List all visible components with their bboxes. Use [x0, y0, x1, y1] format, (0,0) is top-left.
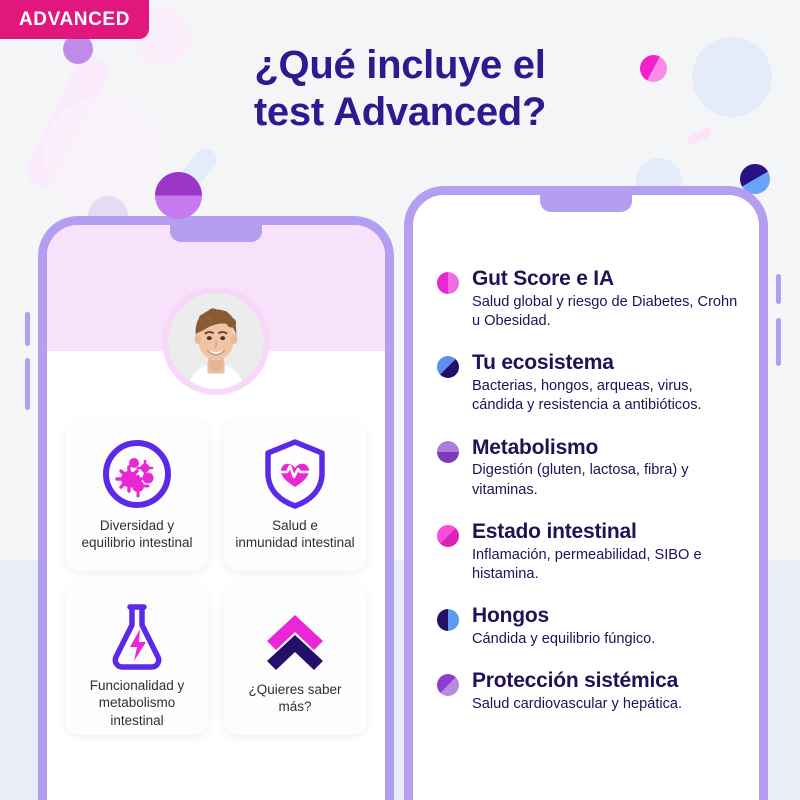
shield-heartbeat-icon — [260, 435, 330, 513]
list-item-desc: Salud global y riesgo de Diabetes, Crohn… — [472, 293, 745, 332]
feature-card-label: ¿Quieres saber más? — [248, 681, 341, 716]
circle-lightblue-large — [692, 37, 772, 117]
phone-right-side-button — [776, 274, 781, 304]
dot-blue-navy-split — [437, 356, 459, 378]
phone-mockup-left: Diversidad y equilibrio intestinal — [38, 216, 394, 800]
phone-right-frame: Gut Score e IA Salud global y riesgo de … — [404, 186, 768, 800]
card-label-line: inmunidad intestinal — [235, 534, 354, 551]
phone-right-screen: Gut Score e IA Salud global y riesgo de … — [413, 195, 759, 800]
page-title-line2: test Advanced? — [140, 89, 660, 136]
list-item-desc: Digestión (gluten, lactosa, fibra) y vit… — [472, 461, 745, 500]
dot-pink-split — [437, 525, 459, 547]
list-item[interactable]: Protección sistémica Salud cardiovascula… — [437, 669, 745, 714]
dot-navy-blue-split — [437, 609, 459, 631]
feature-list: Gut Score e IA Salud global y riesgo de … — [437, 267, 745, 734]
list-item-desc: Bacterias, hongos, arqueas, virus, cándi… — [472, 377, 745, 416]
page-title: ¿Qué incluye el test Advanced? — [140, 42, 660, 136]
list-item-title: Estado intestinal — [472, 520, 745, 544]
user-photo — [168, 293, 264, 389]
feature-card-know-more[interactable]: ¿Quieres saber más? — [223, 585, 367, 735]
list-item-title: Protección sistémica — [472, 669, 682, 693]
card-label-line: metabolismo — [90, 694, 185, 711]
advanced-badge: ADVANCED — [0, 0, 149, 39]
feature-card-grid: Diversidad y equilibrio intestinal — [65, 421, 367, 735]
card-label-line: Diversidad y — [81, 517, 192, 534]
poster-canvas: ADVANCED ¿Qué incluye el test Advanced? — [0, 0, 800, 800]
phone-left-side-button — [25, 312, 30, 346]
list-item-title: Gut Score e IA — [472, 267, 745, 291]
list-item-desc: Salud cardiovascular y hepática. — [472, 695, 682, 714]
circle-purple-split — [155, 172, 202, 219]
phone-left-side-button-2 — [25, 358, 30, 410]
dot-violet-split — [437, 674, 459, 696]
card-label-line: más? — [248, 698, 341, 715]
feature-card-label: Salud e inmunidad intestinal — [235, 517, 354, 552]
phone-mockup-right: Gut Score e IA Salud global y riesgo de … — [404, 186, 768, 800]
double-chevron-up-icon — [257, 599, 333, 677]
phone-left-screen: Diversidad y equilibrio intestinal — [47, 225, 385, 800]
advanced-badge-label: ADVANCED — [19, 9, 130, 31]
list-item-desc: Inflamación, permeabilidad, SIBO e hista… — [472, 546, 745, 585]
card-label-line: Funcionalidad y — [90, 677, 185, 694]
list-item[interactable]: Hongos Cándida y equilibrio fúngico. — [437, 604, 745, 649]
feature-card-immunity[interactable]: Salud e inmunidad intestinal — [223, 421, 367, 571]
feature-card-diversity[interactable]: Diversidad y equilibrio intestinal — [65, 421, 209, 571]
bacteria-circle-icon — [100, 435, 174, 513]
phone-right-side-button-2 — [776, 318, 781, 366]
phone-left-notch — [170, 225, 262, 242]
phone-left-frame: Diversidad y equilibrio intestinal — [38, 216, 394, 800]
list-item-title: Hongos — [472, 604, 655, 628]
phone-right-notch — [540, 195, 632, 212]
page-title-line1: ¿Qué incluye el — [140, 42, 660, 89]
feature-card-metabolism[interactable]: Funcionalidad y metabolismo intestinal — [65, 585, 209, 735]
dot-magenta-split — [437, 272, 459, 294]
list-item[interactable]: Gut Score e IA Salud global y riesgo de … — [437, 267, 745, 331]
list-item-desc: Cándida y equilibrio fúngico. — [472, 630, 655, 649]
feature-card-label: Funcionalidad y metabolismo intestinal — [90, 677, 185, 729]
list-item[interactable]: Tu ecosistema Bacterias, hongos, arqueas… — [437, 351, 745, 415]
card-label-line: Salud e — [235, 517, 354, 534]
list-item-title: Tu ecosistema — [472, 351, 745, 375]
list-item-title: Metabolismo — [472, 436, 745, 460]
list-item[interactable]: Estado intestinal Inflamación, permeabil… — [437, 520, 745, 584]
card-label-line: intestinal — [90, 712, 185, 729]
flask-bolt-icon — [104, 599, 170, 673]
avatar — [162, 287, 270, 395]
list-item[interactable]: Metabolismo Digestión (gluten, lactosa, … — [437, 436, 745, 500]
card-label-line: ¿Quieres saber — [248, 681, 341, 698]
card-label-line: equilibrio intestinal — [81, 534, 192, 551]
dot-purple-split — [437, 441, 459, 463]
feature-card-label: Diversidad y equilibrio intestinal — [81, 517, 192, 552]
